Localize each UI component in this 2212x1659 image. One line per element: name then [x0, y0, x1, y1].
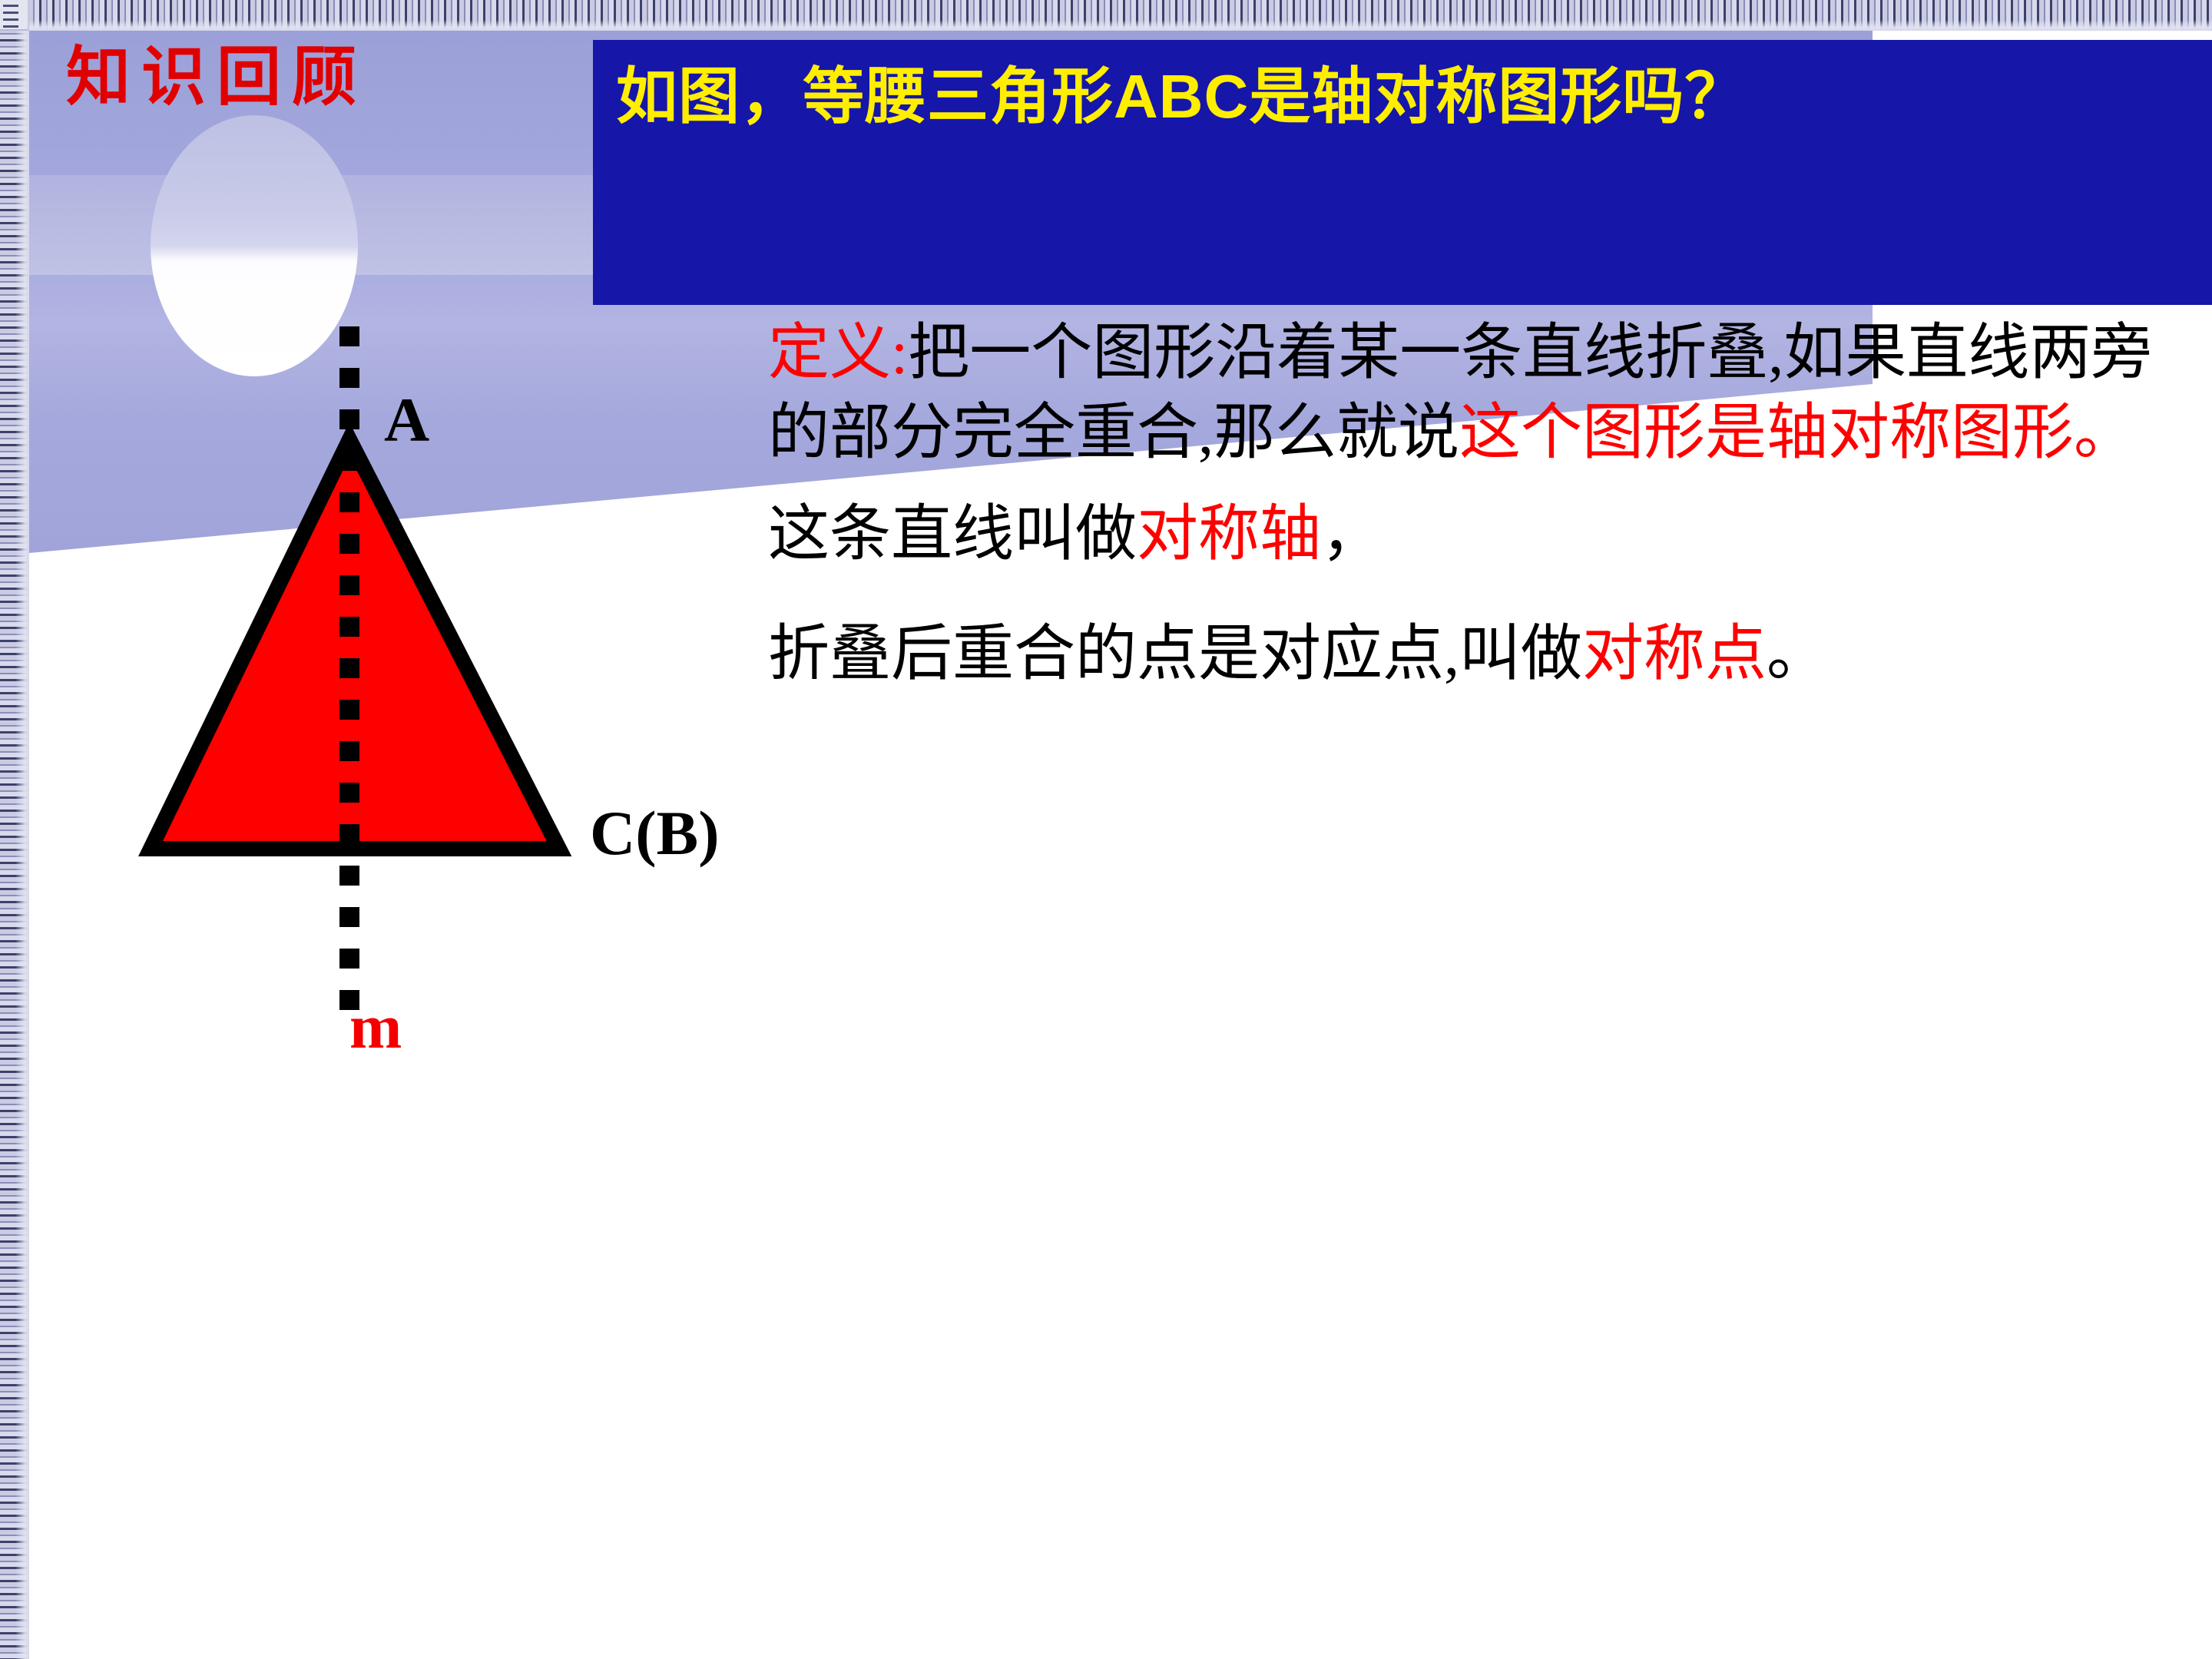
- definition-highlight: 这个图形是轴对称图形。: [1459, 399, 2135, 467]
- ruler-top-fade: [0, 20, 2212, 31]
- definition-text-block: 定义:把一个图形沿着某一条直线折叠,如果直线两旁的部分完全重合,那么就说这个图形…: [768, 313, 2197, 694]
- axis-paragraph: 这条直线叫做对称轴，: [768, 495, 2197, 575]
- page-title: 知识回顾: [66, 41, 558, 116]
- ruler-left-fade: [15, 0, 29, 1659]
- point-lead-text: 折叠后重合的点是对应点,叫做: [768, 621, 1582, 688]
- axis-lead-text: 这条直线叫做: [768, 501, 1137, 568]
- vertex-label-a: A: [384, 384, 429, 456]
- axis-label-m: m: [349, 991, 402, 1063]
- axis-tail-text: ，: [1321, 501, 1382, 568]
- point-tail-text: 。: [1767, 621, 1828, 688]
- point-paragraph: 折叠后重合的点是对应点,叫做对称点。: [768, 614, 2197, 694]
- definition-paragraph: 定义:把一个图形沿着某一条直线折叠,如果直线两旁的部分完全重合,那么就说这个图形…: [768, 313, 2197, 473]
- point-highlight-text: 对称点: [1582, 621, 1767, 688]
- banner-circle-shape: [151, 115, 358, 376]
- question-banner: 如图，等腰三角形ABC是轴对称图形吗？: [593, 40, 2212, 305]
- question-text: 如图，等腰三角形ABC是轴对称图形吗？: [616, 57, 2192, 137]
- ruler-corner-icon: [0, 0, 29, 31]
- base-label-cb: C(B): [590, 797, 720, 869]
- axis-highlight-text: 对称轴: [1137, 501, 1321, 568]
- slide-canvas: 知识回顾 如图，等腰三角形ABC是轴对称图形吗？ A C(B) m 定义:把一个…: [0, 0, 2212, 1659]
- definition-label: 定义:: [768, 320, 908, 387]
